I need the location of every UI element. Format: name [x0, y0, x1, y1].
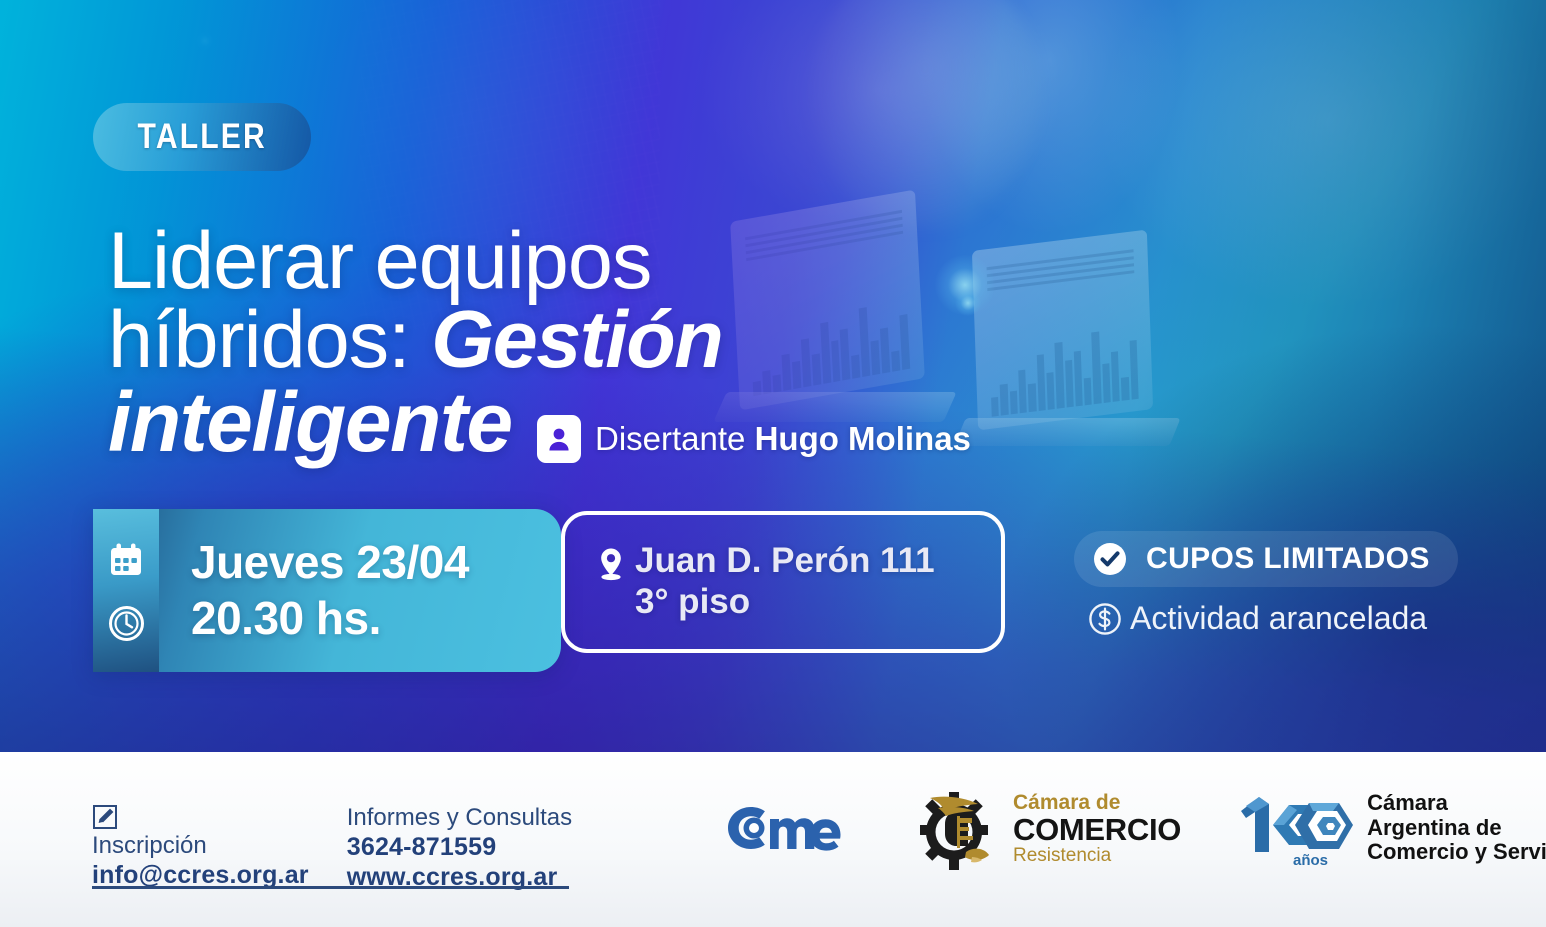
- ccr-line-2: COMERCIO: [1013, 814, 1181, 845]
- limited-seats-badge: CUPOS LIMITADOS: [1074, 531, 1458, 587]
- fee-note: Actividad arancelada: [1088, 600, 1427, 637]
- dollar-circle-icon: [1088, 602, 1122, 636]
- contact-underline: [92, 886, 569, 889]
- check-circle-icon: [1092, 541, 1128, 577]
- location-line-1: Juan D. Perón 111: [635, 541, 935, 582]
- location-block: Juan D. Perón 111 3° piso: [561, 511, 1005, 653]
- inquiries-phone[interactable]: 3624-871559: [347, 832, 572, 862]
- category-badge: TALLER: [93, 103, 311, 171]
- speaker-info: Disertante Hugo Molinas: [537, 415, 971, 463]
- title-line-2: híbridos: Gestión: [108, 301, 1008, 380]
- footer: Inscripción info@ccres.org.ar Informes y…: [0, 752, 1546, 927]
- speaker-label: Disertante: [595, 420, 745, 457]
- event-flyer: TALLER Liderar equipos híbridos: Gestión…: [0, 0, 1546, 927]
- clock-icon: [108, 605, 145, 642]
- registration-label: Inscripción: [92, 832, 309, 860]
- fee-label: Actividad arancelada: [1130, 600, 1427, 637]
- title-line-2-italic: Gestión: [431, 295, 722, 385]
- cac-line-1: Cámara: [1367, 791, 1546, 816]
- came-logo: [718, 800, 860, 856]
- category-badge-label: TALLER: [137, 117, 266, 157]
- title-line-1: Liderar equipos: [108, 222, 1008, 301]
- speaker-text: Disertante Hugo Molinas: [595, 420, 971, 458]
- cac-line-2: Argentina de: [1367, 816, 1546, 841]
- hero-banner: TALLER Liderar equipos híbridos: Gestión…: [0, 0, 1546, 752]
- inquiries-label: Informes y Consultas: [347, 804, 572, 832]
- ccr-line-3: Resistencia: [1013, 846, 1181, 865]
- location-text: Juan D. Perón 111 3° piso: [635, 541, 935, 622]
- ccr-line-1: Cámara de: [1013, 792, 1181, 813]
- cac-line-3: Comercio y Servicios: [1367, 840, 1546, 865]
- datetime-icon-strip: [93, 509, 159, 672]
- contact-info: Inscripción info@ccres.org.ar Informes y…: [92, 804, 572, 892]
- person-badge-icon: [537, 415, 581, 463]
- location-pin-icon: [597, 547, 625, 581]
- title-line-3-italic: inteligente: [108, 375, 512, 469]
- svg-text:años: años: [1293, 852, 1328, 867]
- speaker-name: Hugo Molinas: [755, 420, 971, 457]
- camara-comercio-logo: Cámara de COMERCIO Resistencia: [916, 786, 1181, 870]
- event-date: Jueves 23/04: [191, 537, 561, 589]
- camara-comercio-emblem: [916, 786, 1004, 870]
- registration-column: Inscripción info@ccres.org.ar: [92, 804, 309, 892]
- datetime-text: Jueves 23/04 20.30 hs.: [159, 509, 561, 672]
- title-line-2-plain: híbridos:: [108, 295, 431, 385]
- limited-seats-label: CUPOS LIMITADOS: [1146, 542, 1430, 576]
- edit-pencil-icon: [92, 804, 309, 830]
- datetime-block: Jueves 23/04 20.30 hs.: [93, 509, 561, 672]
- calendar-icon: [107, 543, 145, 579]
- cac-100-anos-mark: años: [1237, 789, 1355, 867]
- event-time: 20.30 hs.: [191, 593, 561, 645]
- partner-logos: Cámara de COMERCIO Resistencia: [718, 786, 1546, 870]
- location-line-2: 3° piso: [635, 582, 935, 623]
- camara-argentina-logo: años Cámara Argentina de Comercio y Serv…: [1237, 789, 1546, 867]
- inquiries-column: Informes y Consultas 3624-871559 www.ccr…: [347, 804, 572, 892]
